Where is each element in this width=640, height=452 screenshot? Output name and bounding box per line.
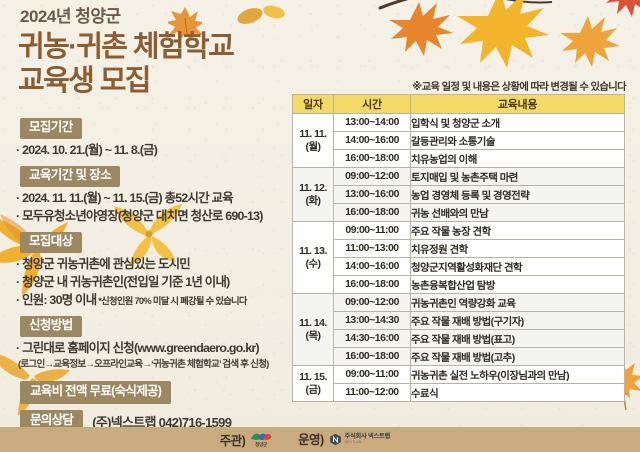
schedule-table: 일자 시간 교육내용 11. 11.(월)13:00~14:00입학식 및 청양…: [292, 94, 625, 402]
cheongyang-logo-caption: 청양군: [255, 443, 267, 448]
table-row: 14:30~16:00주요 작물 재배 방법(표고): [293, 330, 625, 348]
schedule-content-cell: 주요 작물 재배 방법(고추): [411, 348, 625, 366]
table-row: 11. 13.(수)09:00~11:00주요 작물 농장 견학: [293, 222, 625, 240]
schedule-content-cell: 귀농 선배와의 만남: [411, 204, 625, 222]
schedule-content-cell: 청양군지역활성화재단 견학: [411, 258, 625, 276]
schedule-time-cell: 13:00~14:00: [334, 114, 411, 132]
schedule-time-cell: 13:00~14:30: [334, 312, 411, 330]
schedule-content-cell: 토지매입 및 농촌주택 마련: [411, 168, 625, 186]
schedule-date-line2: (금): [293, 384, 333, 397]
section-badge: 신청방법: [20, 316, 82, 337]
poster-footer: 주관) 청양군 운영) 주식회사 넥스트랩 NEXTLAB: [0, 427, 640, 452]
schedule-content-cell: 치유정원 견학: [411, 240, 625, 258]
table-row: 13:00~16:00농업 경영체 등록 및 경영전략: [293, 186, 625, 204]
info-section: 모집대상· 청양군 귀농귀촌에 관심있는 도시민· 청양군 내 귀농귀촌인(전입…: [12, 232, 304, 309]
table-row: 16:00~18:00농촌융복합산업 탐방: [293, 276, 625, 294]
schedule-date-line2: (목): [293, 330, 333, 343]
schedule-date-line2: (수): [293, 258, 333, 271]
info-line-text: · 청양군 귀농귀촌에 관심있는 도시민: [16, 257, 190, 271]
schedule-date-line1: 11. 15.: [293, 371, 333, 384]
schedule-date-cell: 11. 11.(월): [293, 114, 334, 168]
table-row: 11. 11.(월)13:00~14:00입학식 및 청양군 소개: [293, 114, 625, 132]
column-header-content: 교육내용: [411, 95, 625, 114]
info-line: · 청양군 귀농귀촌에 관심있는 도시민: [16, 256, 304, 273]
column-header-time: 시간: [334, 95, 411, 114]
schedule-time-cell: 13:00~16:00: [334, 186, 411, 204]
schedule-content-cell: 귀농귀촌인 역량강화 교육: [411, 294, 625, 312]
info-line: · 인원: 30명 이내 *신청인원 70% 미달 시 폐강될 수 있습니다: [16, 292, 304, 309]
info-section: 모집기간· 2024. 10. 21.(월) ~ 11. 8.(금): [12, 118, 304, 159]
poster-canvas: 2024년 청양군 귀농·귀촌 체험학교 교육생 모집 모집기간· 2024. …: [0, 0, 640, 452]
table-row: 16:00~18:00치유농업의 이해: [293, 150, 625, 168]
info-line-text: · 모두유청소년야영장(청양군 대치면 청산로 690-13): [16, 209, 263, 223]
schedule-time-cell: 14:30~16:00: [334, 330, 411, 348]
schedule-date-cell: 11. 15.(금): [293, 366, 334, 402]
info-line: · 2024. 10. 21.(월) ~ 11. 8.(금): [16, 142, 304, 159]
info-section: 신청방법· 그린대로 홈페이지 신청(www.greendaero.go.kr)…: [12, 316, 304, 371]
cheongyang-county-logo: 청양군: [250, 431, 272, 448]
schedule-content-cell: 주요 작물 농장 견학: [411, 222, 625, 240]
schedule-date-cell: 11. 14.(목): [293, 294, 334, 366]
schedule-date-line1: 11. 14.: [293, 317, 333, 330]
info-section: 교육기간 및 장소· 2024. 11. 11.(월) ~ 11. 15.(금)…: [12, 166, 304, 225]
schedule-content-cell: 주요 작물 재배 방법(구기자): [411, 312, 625, 330]
schedule-date-line1: 11. 11.: [293, 128, 333, 141]
section-badge: 교육기간 및 장소: [20, 166, 120, 187]
table-row: 16:00~18:00주요 작물 재배 방법(고추): [293, 348, 625, 366]
info-line: (로그인→교육정보→오프라인교육→‘귀농귀촌 체험학교’ 검색 후 신청): [18, 358, 304, 371]
info-column: 모집기간· 2024. 10. 21.(월) ~ 11. 8.(금)교육기간 및…: [12, 118, 304, 433]
schedule-time-cell: 11:00~12:00: [334, 384, 411, 402]
section-badge: 모집대상: [20, 232, 82, 253]
nextlab-logo: 주식회사 넥스트랩 NEXTLAB: [329, 433, 390, 446]
schedule-content-cell: 수료식: [411, 384, 625, 402]
schedule-date-line1: 11. 12.: [293, 182, 333, 195]
header-title-line2: 교육생 모집: [18, 64, 346, 98]
schedule-content-cell: 농촌융복합산업 탐방: [411, 276, 625, 294]
schedule-header-row: 일자 시간 교육내용: [293, 95, 625, 114]
schedule-time-cell: 11:00~13:00: [334, 240, 411, 258]
table-row: 16:00~18:00귀농 선배와의 만남: [293, 204, 625, 222]
schedule-date-line1: 11. 13.: [293, 245, 333, 258]
schedule-date-cell: 11. 13.(수): [293, 222, 334, 294]
schedule-time-cell: 16:00~18:00: [334, 204, 411, 222]
section-badge: 모집기간: [20, 118, 82, 139]
poster-header: 2024년 청양군 귀농·귀촌 체험학교 교육생 모집: [16, 8, 346, 98]
table-row: 14:00~16:00청양군지역활성화재단 견학: [293, 258, 625, 276]
maple-branch-decoration: [370, 0, 640, 73]
info-line-text: · 2024. 11. 11.(월) ~ 11. 15.(금) 총52시간 교육: [16, 191, 233, 205]
schedule-content-cell: 입학식 및 청양군 소개: [411, 114, 625, 132]
schedule-time-cell: 16:00~18:00: [334, 348, 411, 366]
schedule-content-cell: 농업 경영체 등록 및 경영전략: [411, 186, 625, 204]
table-row: 11. 15.(금)09:00~11:00귀농귀촌 실전 노하우(이장님과의 만…: [293, 366, 625, 384]
table-row: 14:00~16:00갈등관리와 소통기술: [293, 132, 625, 150]
schedule-time-cell: 14:00~16:00: [334, 258, 411, 276]
table-row: 11:00~12:00수료식: [293, 384, 625, 402]
info-line-text: · 인원: 30명 이내: [16, 293, 96, 307]
schedule-date-line2: (화): [293, 195, 333, 208]
info-line-text: · 청양군 내 귀농귀촌인(전입일 기준 1년 이내): [16, 275, 229, 289]
info-line: · 그린대로 홈페이지 신청(www.greendaero.go.kr): [16, 340, 304, 357]
schedule-time-cell: 09:00~12:00: [334, 294, 411, 312]
schedule-time-cell: 09:00~12:00: [334, 168, 411, 186]
schedule-time-cell: 09:00~11:00: [334, 366, 411, 384]
table-row: 11. 12.(화)09:00~12:00토지매입 및 농촌주택 마련: [293, 168, 625, 186]
table-row: 11:00~13:00치유정원 견학: [293, 240, 625, 258]
schedule-content-cell: 치유농업의 이해: [411, 150, 625, 168]
header-title-line1: 귀농·귀촌 체험학교: [18, 30, 346, 64]
schedule-content-cell: 주요 작물 재배 방법(표고): [411, 330, 625, 348]
table-row: 11. 14.(목)09:00~12:00귀농귀촌인 역량강화 교육: [293, 294, 625, 312]
column-header-date: 일자: [293, 95, 334, 114]
schedule-content-cell: 갈등관리와 소통기술: [411, 132, 625, 150]
info-line-text: · 2024. 10. 21.(월) ~ 11. 8.(금): [16, 143, 157, 157]
info-line-text: · 그린대로 홈페이지 신청(www.greendaero.go.kr): [16, 341, 259, 355]
host-group: 주관) 청양군: [220, 431, 272, 448]
cheongyang-logo-mark: [250, 431, 272, 442]
free-tuition-badge: 교육비 전액 무료(숙식제공): [20, 381, 171, 404]
info-line: · 청양군 내 귀농귀촌인(전입일 기준 1년 이내): [16, 274, 304, 291]
schedule-notice: ※교육 일정 및 내용은 상황에 따라 변경될 수 있습니다: [412, 78, 626, 93]
table-row: 13:00~14:30주요 작물 재배 방법(구기자): [293, 312, 625, 330]
info-line-note: *신청인원 70% 미달 시 폐강될 수 있습니다: [96, 296, 246, 306]
operator-sub: NEXTLAB: [345, 441, 390, 444]
header-kicker: 2024년 청양군: [20, 8, 346, 27]
operator-group: 운영) 주식회사 넥스트랩 NEXTLAB: [298, 433, 390, 446]
info-line: · 2024. 11. 11.(월) ~ 11. 15.(금) 총52시간 교육: [16, 190, 304, 207]
host-label: 주관): [220, 435, 245, 448]
schedule-date-line2: (월): [293, 141, 333, 154]
schedule-time-cell: 09:00~11:00: [334, 222, 411, 240]
schedule-content-cell: 귀농귀촌 실전 노하우(이장님과의 만남): [411, 366, 625, 384]
schedule-time-cell: 16:00~18:00: [334, 150, 411, 168]
operator-label: 운영): [298, 434, 323, 447]
schedule-time-cell: 14:00~16:00: [334, 132, 411, 150]
nextlab-logo-mark: [329, 433, 342, 446]
schedule-date-cell: 11. 12.(화): [293, 168, 334, 222]
info-line: · 모두유청소년야영장(청양군 대치면 청산로 690-13): [16, 208, 304, 225]
schedule-time-cell: 16:00~18:00: [334, 276, 411, 294]
